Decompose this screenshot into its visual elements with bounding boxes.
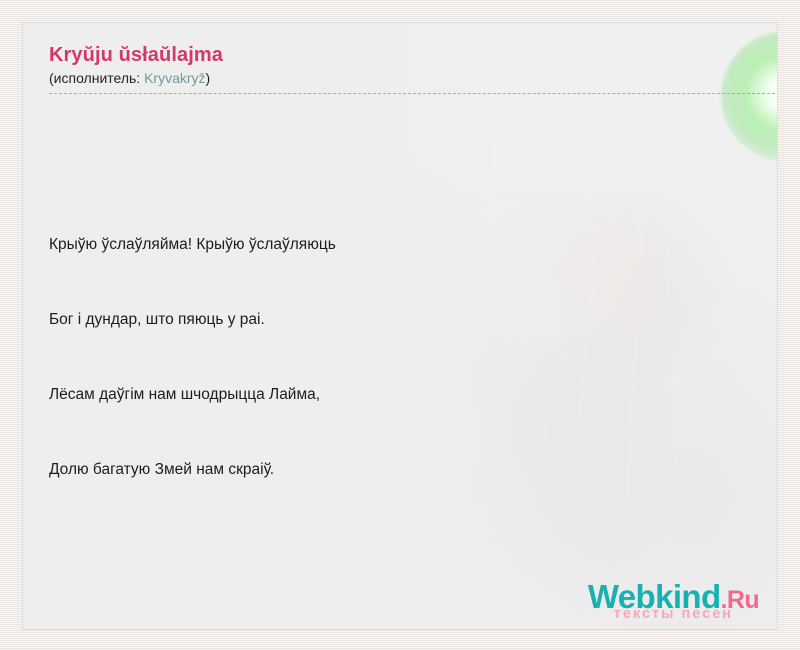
lyric-line: Лёсам даўгім нам шчодрыцца Лайма, bbox=[49, 382, 751, 407]
lyrics-body: Крыўю ўслаўляйма! Крыўю ўслаўляюць Бог і… bbox=[49, 94, 751, 630]
page-title: Kryŭju ŭsłaŭlajma bbox=[49, 43, 751, 68]
lyrics-content-panel: Kryŭju ŭsłaŭlajma (исполнитель: Kryvakry… bbox=[22, 22, 778, 630]
lyric-line: Бог і дундар, што пяюць у раі. bbox=[49, 307, 751, 332]
page-frame: Kryŭju ŭsłaŭlajma (исполнитель: Kryvakry… bbox=[0, 0, 800, 650]
artist-suffix-label: ) bbox=[206, 70, 211, 86]
site-watermark: Webkind.Ru тексты песен bbox=[588, 580, 759, 622]
lyric-line: Долю багатую Змей нам скраіў. bbox=[49, 457, 751, 482]
artist-link[interactable]: Kryvakryž bbox=[144, 70, 205, 86]
lyric-line: Крыўю ўслаўляйма! Крыўю ўслаўляюць bbox=[49, 232, 751, 257]
artist-line: (исполнитель: Kryvakryž) bbox=[49, 70, 751, 93]
artist-prefix-label: (исполнитель: bbox=[49, 70, 144, 86]
content-inner: Kryŭju ŭsłaŭlajma (исполнитель: Kryvakry… bbox=[23, 23, 777, 630]
lyrics-stanza: Крыўю ўслаўляйма! Крыўю ўслаўляюць Бог і… bbox=[49, 182, 751, 532]
